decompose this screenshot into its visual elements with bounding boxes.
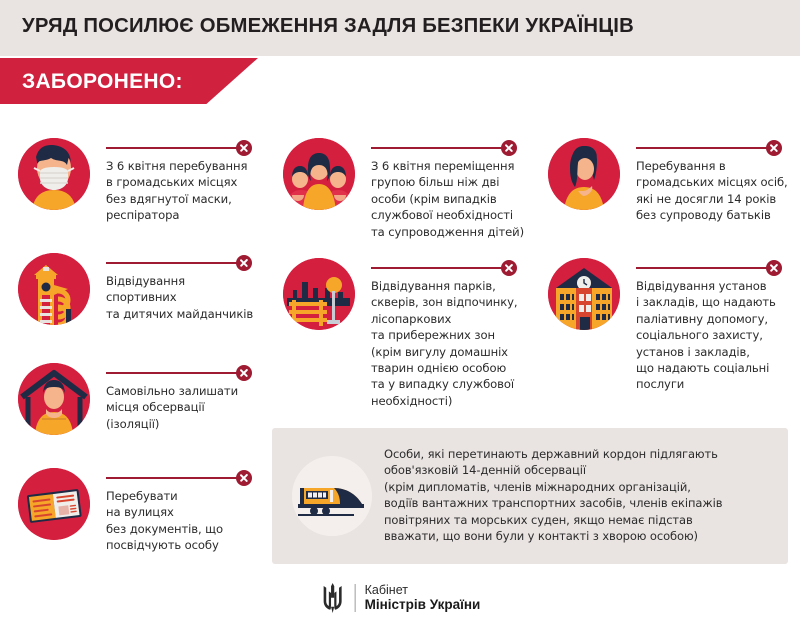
restriction-text: Самовільно залишати місця обсервації (із… (106, 383, 244, 432)
restriction-text: Відвідування спортивних та дитячих майда… (106, 273, 253, 322)
item-rule (106, 262, 244, 264)
footer-divider (355, 584, 356, 612)
x-marker-icon (236, 255, 252, 271)
park-bench-city-icon (283, 258, 355, 330)
restriction-text: З 6 квітня перебування в громадських міс… (106, 158, 247, 224)
prohibited-banner: ЗАБОРОНЕНО: (0, 58, 258, 104)
item-rule (106, 147, 244, 149)
train-icon (292, 456, 372, 536)
item-rule (371, 147, 509, 149)
x-marker-icon (766, 140, 782, 156)
banner-label: ЗАБОРОНЕНО: (22, 70, 183, 94)
restriction-text: Перебувати на вулицях без документів, що… (106, 488, 244, 554)
id-passport-document-icon (18, 468, 90, 540)
x-marker-icon (236, 140, 252, 156)
x-marker-icon (236, 470, 252, 486)
footer: Кабінет Міністрів України (0, 572, 800, 627)
footer-line-2: Міністрів України (365, 597, 481, 612)
person-at-home-icon (18, 363, 90, 435)
item-rule (636, 147, 774, 149)
family-group-icon (283, 138, 355, 210)
item-rule (636, 267, 774, 269)
page-title: УРЯД ПОСИЛЮЄ ОБМЕЖЕННЯ ЗАДЛЯ БЕЗПЕКИ УКР… (22, 14, 634, 38)
item-rule (371, 267, 509, 269)
restriction-text: Відвідування установ і закладів, що нада… (636, 278, 776, 393)
young-girl-icon (548, 138, 620, 210)
x-marker-icon (766, 260, 782, 276)
x-marker-icon (501, 260, 517, 276)
institution-building-icon (548, 258, 620, 330)
item-rule (106, 372, 244, 374)
playground-slide-icon (18, 253, 90, 325)
restriction-text: З 6 квітня переміщення групою більш ніж … (371, 158, 524, 240)
item-rule (106, 477, 244, 479)
note-text: Особи, які перетинають державний кордон … (384, 446, 776, 544)
person-wearing-mask-icon (18, 138, 90, 210)
ukraine-trident-emblem-icon (320, 582, 346, 614)
restriction-text: Перебування в громадських місцях осіб, я… (636, 158, 788, 224)
x-marker-icon (501, 140, 517, 156)
x-marker-icon (236, 365, 252, 381)
border-observation-note-panel: Особи, які перетинають державний кордон … (272, 428, 788, 564)
restriction-text: Відвідування парків, скверів, зон відпоч… (371, 278, 518, 409)
footer-line-1: Кабінет (365, 583, 481, 597)
